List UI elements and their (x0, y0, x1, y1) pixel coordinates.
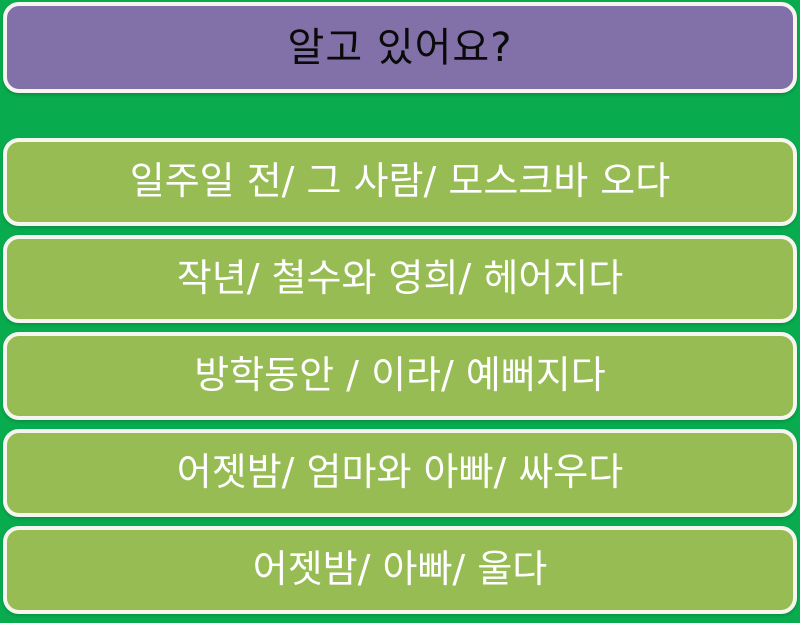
list-item[interactable]: 작년/ 철수와 영희/ 헤어지다 (3, 235, 797, 323)
sentence-list: 일주일 전/ 그 사람/ 모스크바 오다 작년/ 철수와 영희/ 헤어지다 방학… (0, 138, 800, 623)
list-item-label: 어젯밤/ 엄마와 아빠/ 싸우다 (177, 452, 623, 494)
list-item[interactable]: 어젯밤/ 아빠/ 울다 (3, 526, 797, 614)
list-item[interactable]: 어젯밤/ 엄마와 아빠/ 싸우다 (3, 429, 797, 517)
list-item[interactable]: 일주일 전/ 그 사람/ 모스크바 오다 (3, 138, 797, 226)
list-item-label: 작년/ 철수와 영희/ 헤어지다 (177, 258, 623, 300)
list-item-label: 일주일 전/ 그 사람/ 모스크바 오다 (130, 161, 670, 203)
list-item-label: 방학동안 / 이라/ 예뻐지다 (194, 355, 605, 397)
slide-title-box: 알고 있어요? (3, 2, 797, 93)
slide-canvas: 알고 있어요? 일주일 전/ 그 사람/ 모스크바 오다 작년/ 철수와 영희/… (0, 0, 800, 600)
page-title: 알고 있어요? (288, 26, 513, 70)
list-item-label: 어젯밤/ 아빠/ 울다 (253, 549, 547, 591)
list-item[interactable]: 방학동안 / 이라/ 예뻐지다 (3, 332, 797, 420)
